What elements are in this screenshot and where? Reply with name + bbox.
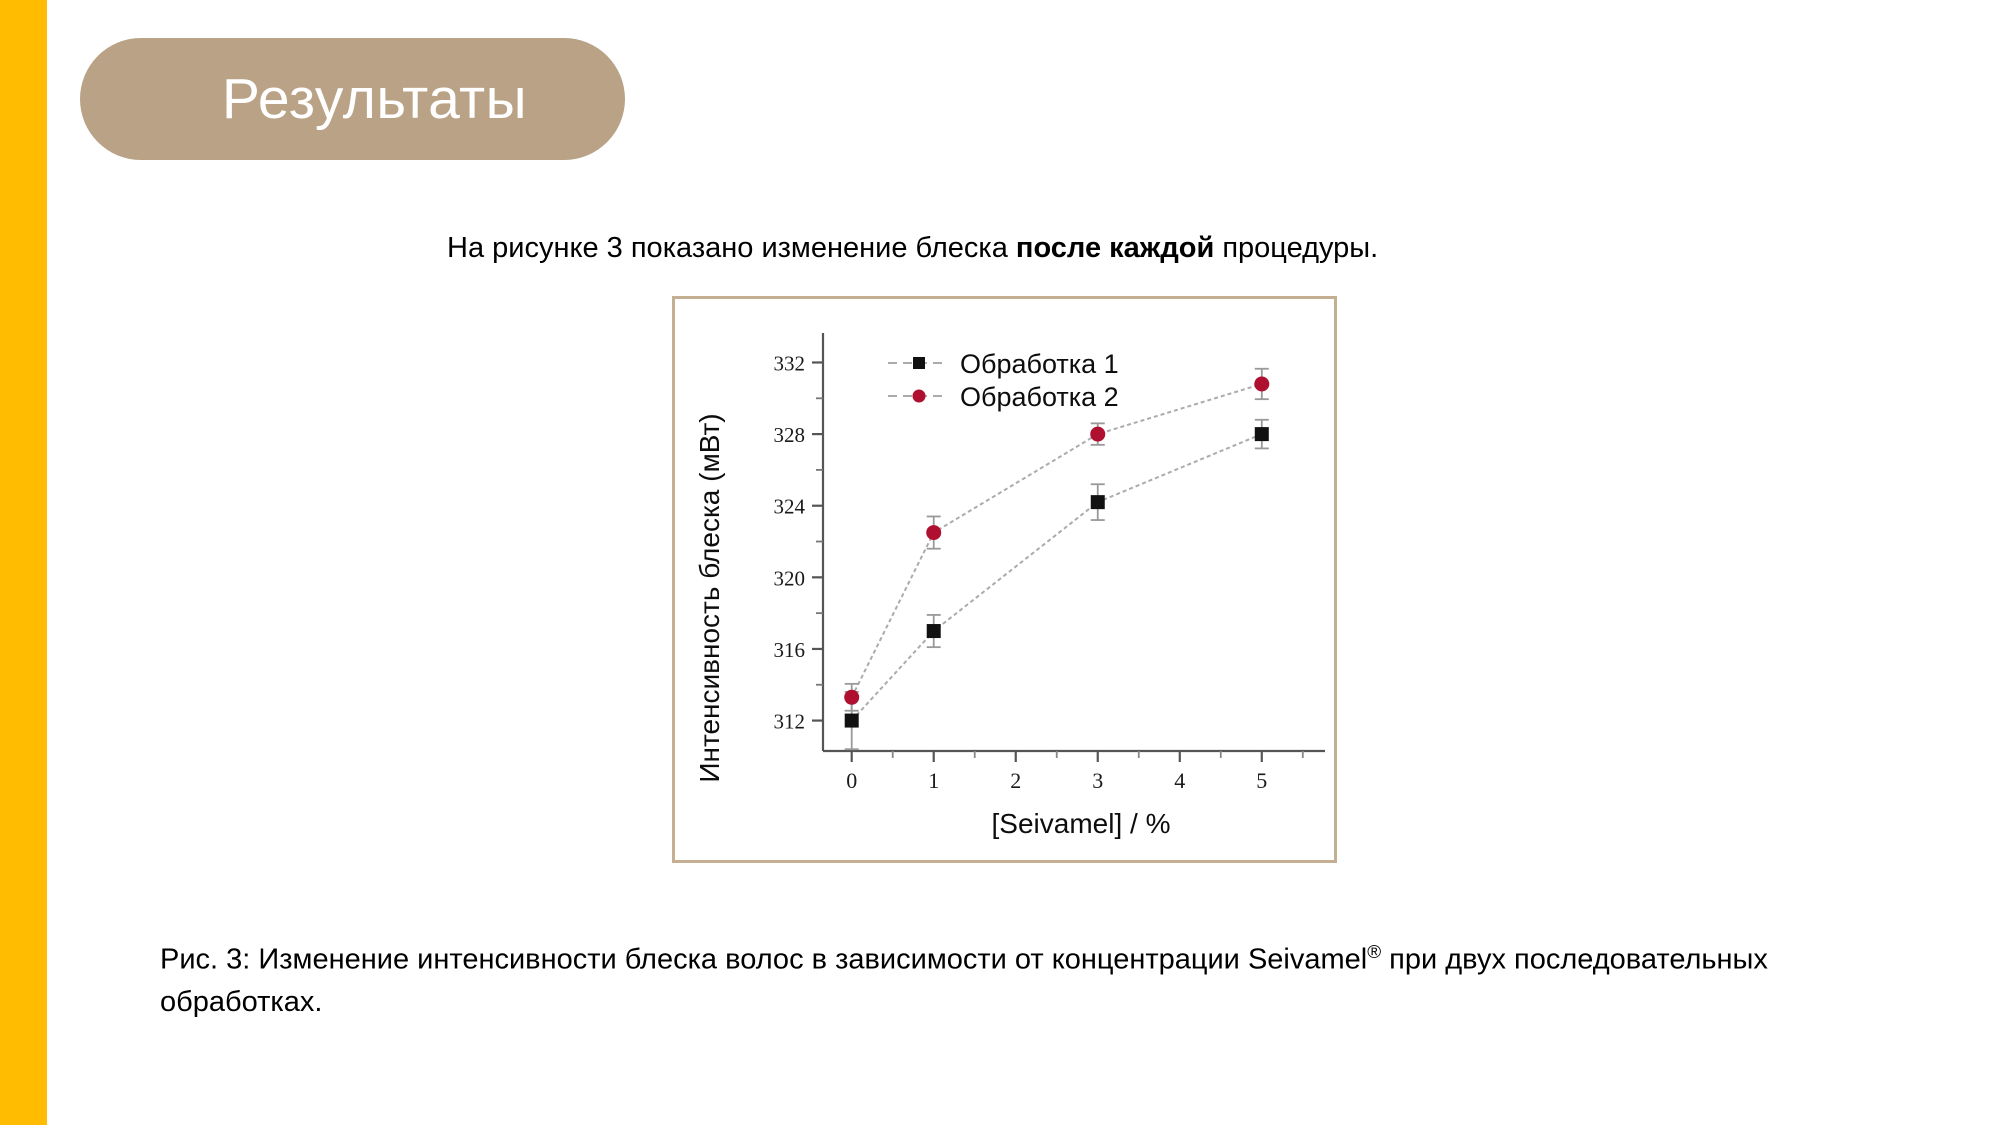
data-point-square — [1255, 427, 1269, 441]
caption-main-text: Рис. 3: Изменение интенсивности блеска в… — [160, 944, 1367, 976]
data-point-square — [845, 714, 859, 728]
x-axis-tick-label: 1 — [928, 768, 939, 793]
intro-paragraph: На рисунке 3 показано изменение блеска п… — [447, 232, 1378, 265]
left-accent-bar — [0, 0, 47, 1125]
page-title: Результаты — [152, 66, 553, 132]
intro-bold-phrase: после каждой — [1016, 232, 1214, 264]
data-point-circle — [1090, 427, 1105, 442]
intro-prefix: На рисунке 3 показано изменение блеска — [447, 232, 1016, 264]
y-axis-title: Интенсивность блеска (мВт) — [694, 413, 725, 782]
x-axis-tick-label: 0 — [846, 768, 857, 793]
legend-label: Обработка 2 — [960, 382, 1119, 412]
data-point-square — [927, 624, 941, 638]
registered-trademark-symbol: ® — [1367, 941, 1381, 962]
slide-title-pill: Результаты — [80, 38, 625, 160]
legend-marker-square — [913, 357, 925, 369]
x-axis-tick-label: 2 — [1010, 768, 1021, 793]
data-point-circle — [1254, 376, 1269, 391]
x-axis-tick-label: 5 — [1256, 768, 1267, 793]
data-point-circle — [926, 525, 941, 540]
y-axis-tick-label: 320 — [774, 566, 806, 590]
legend-entry: Обработка 2 — [888, 382, 1119, 412]
y-axis-tick-label: 312 — [774, 710, 806, 734]
figure-3-frame: 312316320324328332012345Обработка 1Обраб… — [672, 296, 1337, 863]
data-point-circle — [844, 690, 859, 705]
gloss-intensity-line-chart: 312316320324328332012345Обработка 1Обраб… — [675, 299, 1334, 860]
y-axis-tick-label: 316 — [774, 638, 806, 662]
legend-label: Обработка 1 — [960, 349, 1119, 379]
intro-suffix: процедуры. — [1214, 232, 1378, 264]
legend-marker-circle — [913, 390, 926, 403]
x-axis-tick-label: 3 — [1092, 768, 1103, 793]
x-axis-title: [Seivamel] / % — [992, 808, 1171, 839]
x-axis-tick-label: 4 — [1174, 768, 1185, 793]
legend-entry: Обработка 1 — [888, 349, 1119, 379]
figure-caption: Рис. 3: Изменение интенсивности блеска в… — [160, 938, 1800, 1023]
chart-series — [844, 369, 1269, 711]
y-axis-tick-label: 332 — [774, 351, 806, 375]
y-axis-tick-label: 324 — [774, 495, 806, 519]
data-point-square — [1091, 495, 1105, 509]
y-axis-tick-label: 328 — [774, 423, 806, 447]
